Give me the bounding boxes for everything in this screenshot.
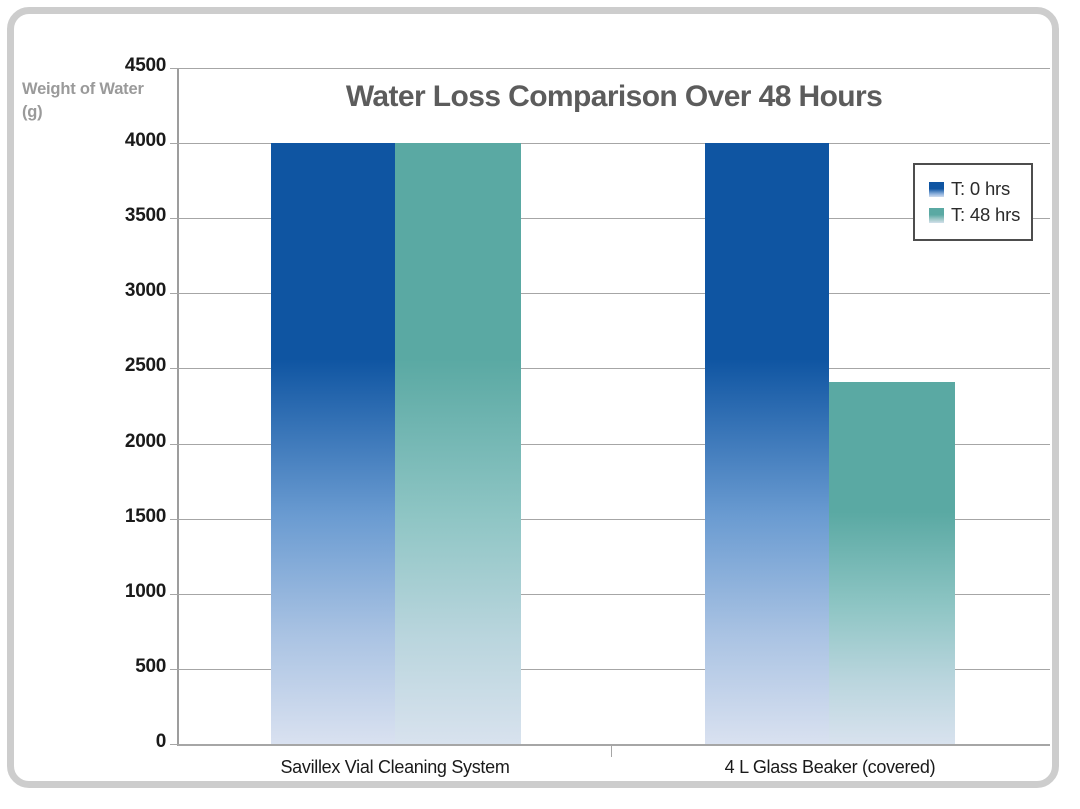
y-axis-tick-label: 500 xyxy=(96,656,166,678)
y-axis-tick-labels: 050010001500200025003000350040004500 xyxy=(88,0,166,809)
legend-label: T: 0 hrs xyxy=(951,178,1010,200)
y-axis-tick-mark xyxy=(170,444,178,445)
y-axis-tick-label: 4000 xyxy=(96,130,166,152)
legend-swatch-icon xyxy=(929,208,944,223)
y-axis-tick-label: 3000 xyxy=(96,280,166,302)
y-axis-tick-mark xyxy=(170,68,178,69)
y-axis-tick-mark xyxy=(170,594,178,595)
gridline xyxy=(178,744,1050,745)
legend-label: T: 48 hrs xyxy=(951,204,1020,226)
gridline xyxy=(178,68,1050,69)
y-axis-tick-mark xyxy=(170,218,178,219)
y-axis-tick-mark xyxy=(170,143,178,144)
y-axis-tick-mark xyxy=(170,744,178,745)
bar xyxy=(271,143,395,744)
y-axis-tick-label: 2000 xyxy=(96,431,166,453)
y-axis-tick-label: 1000 xyxy=(96,581,166,603)
x-axis-category-label: 4 L Glass Beaker (covered) xyxy=(630,757,1030,778)
bar xyxy=(395,143,521,744)
legend-item[interactable]: T: 0 hrs xyxy=(929,176,1019,202)
bar xyxy=(829,382,955,744)
legend-swatch-icon xyxy=(929,182,944,197)
y-axis-tick-mark xyxy=(170,519,178,520)
x-axis-category-label: Savillex Vial Cleaning System xyxy=(195,757,595,778)
chart-canvas: Weight of Water (g) 05001000150020002500… xyxy=(0,0,1080,809)
y-axis-tick-label: 0 xyxy=(96,731,166,753)
chart-title: Water Loss Comparison Over 48 Hours xyxy=(178,80,1050,114)
y-axis-tick-label: 3500 xyxy=(96,205,166,227)
y-axis-tick-mark xyxy=(170,293,178,294)
y-axis-tick-label: 2500 xyxy=(96,355,166,377)
chart-legend: T: 0 hrsT: 48 hrs xyxy=(913,163,1033,241)
bar xyxy=(705,143,829,744)
y-axis-tick-mark xyxy=(170,669,178,670)
y-axis-tick-mark xyxy=(170,368,178,369)
y-axis-tick-label: 1500 xyxy=(96,506,166,528)
y-axis-tick-label: 4500 xyxy=(96,55,166,77)
category-separator-tick xyxy=(611,746,612,757)
legend-item[interactable]: T: 48 hrs xyxy=(929,202,1019,228)
